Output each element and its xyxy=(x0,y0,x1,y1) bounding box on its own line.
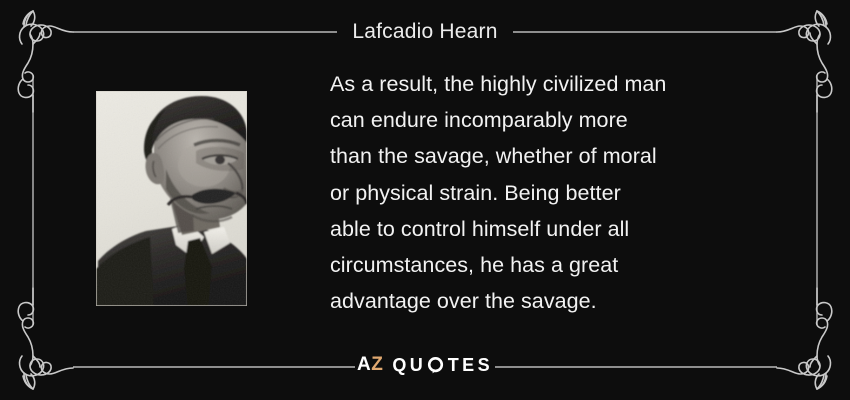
page-title: Lafcadio Hearn xyxy=(0,18,850,46)
quote-line: or physical strain. Being better xyxy=(330,175,750,211)
logo-quotes-prefix: QU xyxy=(392,355,426,375)
quote-card: Lafcadio Hearn xyxy=(0,0,850,400)
logo-letter-z: Z xyxy=(371,354,383,375)
quote-line: advantage over the savage. xyxy=(330,283,750,319)
azquotes-logo[interactable]: AZ QU TES xyxy=(0,352,850,378)
quote-line: able to control himself under all xyxy=(330,211,750,247)
logo-quotes-suffix: TES xyxy=(448,355,493,375)
logo-az-mark: AZ xyxy=(357,355,383,375)
quote-text: As a result, the highly civilized man ca… xyxy=(330,66,750,319)
quote-line: than the savage, whether of moral xyxy=(330,138,750,174)
logo-letter-a: A xyxy=(357,354,371,375)
portrait-image xyxy=(96,91,247,306)
quote-line: can endure incomparably more xyxy=(330,102,750,138)
author-portrait xyxy=(96,91,247,306)
speech-bubble-icon xyxy=(427,357,444,374)
quote-line: circumstances, he has a great xyxy=(330,247,750,283)
logo-quotes-word: QU TES xyxy=(392,355,493,375)
quote-line: As a result, the highly civilized man xyxy=(330,66,750,102)
